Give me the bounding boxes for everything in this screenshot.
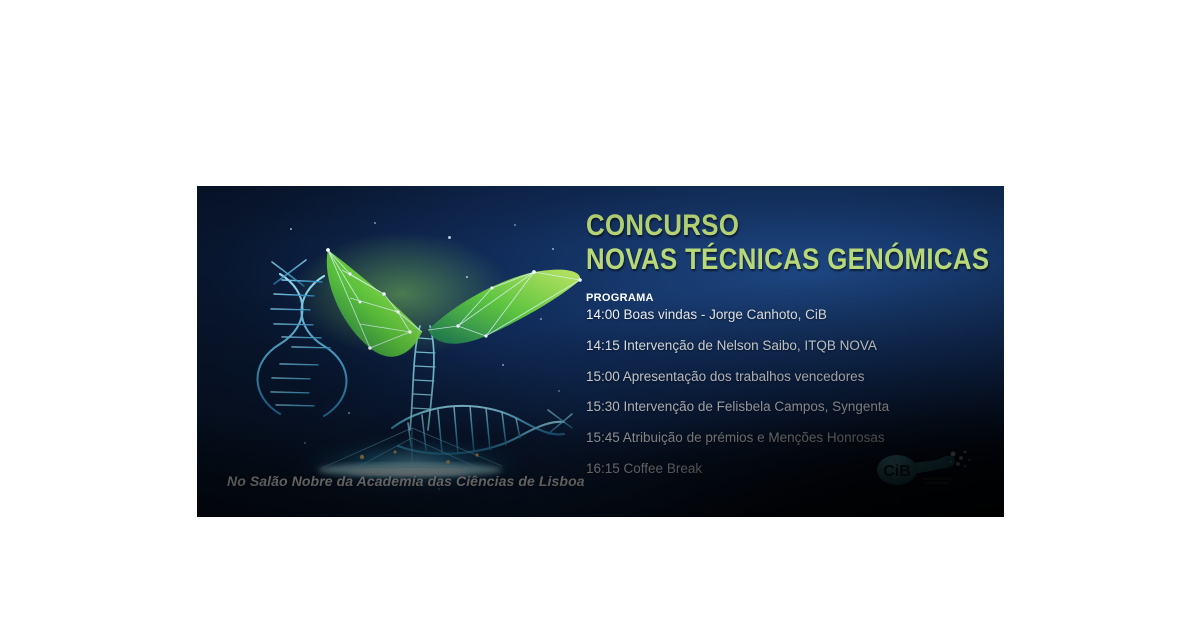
program-label: PROGRAMA — [586, 292, 986, 305]
page-title-line-2: NOVAS TÉCNICAS GENÓMICAS — [586, 244, 930, 276]
logo-wordmark: CiB — [883, 463, 911, 480]
cib-logo: CiB — [875, 447, 971, 495]
page-title-line-1: CONCURSO — [586, 210, 930, 242]
banner-text-column: CONCURSO NOVAS TÉCNICAS GENÓMICAS PROGRA… — [586, 210, 986, 478]
event-banner: CONCURSO NOVAS TÉCNICAS GENÓMICAS PROGRA… — [197, 186, 1004, 517]
program-item: 15:00 Apresentação dos trabalhos vencedo… — [586, 369, 986, 386]
page-canvas: CONCURSO NOVAS TÉCNICAS GENÓMICAS PROGRA… — [0, 0, 1200, 628]
venue-note: No Salão Nobre da Academia das Ciências … — [227, 473, 585, 489]
dna-plant-illustration — [252, 214, 582, 504]
program-item: 15:45 Atribuição de prémios e Menções Ho… — [586, 430, 986, 447]
program-item: 15:30 Intervenção de Felisbela Campos, S… — [586, 399, 986, 416]
program-item: 14:00 Boas vindas - Jorge Canhoto, CiB — [586, 307, 986, 324]
program-item: 14:15 Intervenção de Nelson Saibo, ITQB … — [586, 338, 986, 355]
